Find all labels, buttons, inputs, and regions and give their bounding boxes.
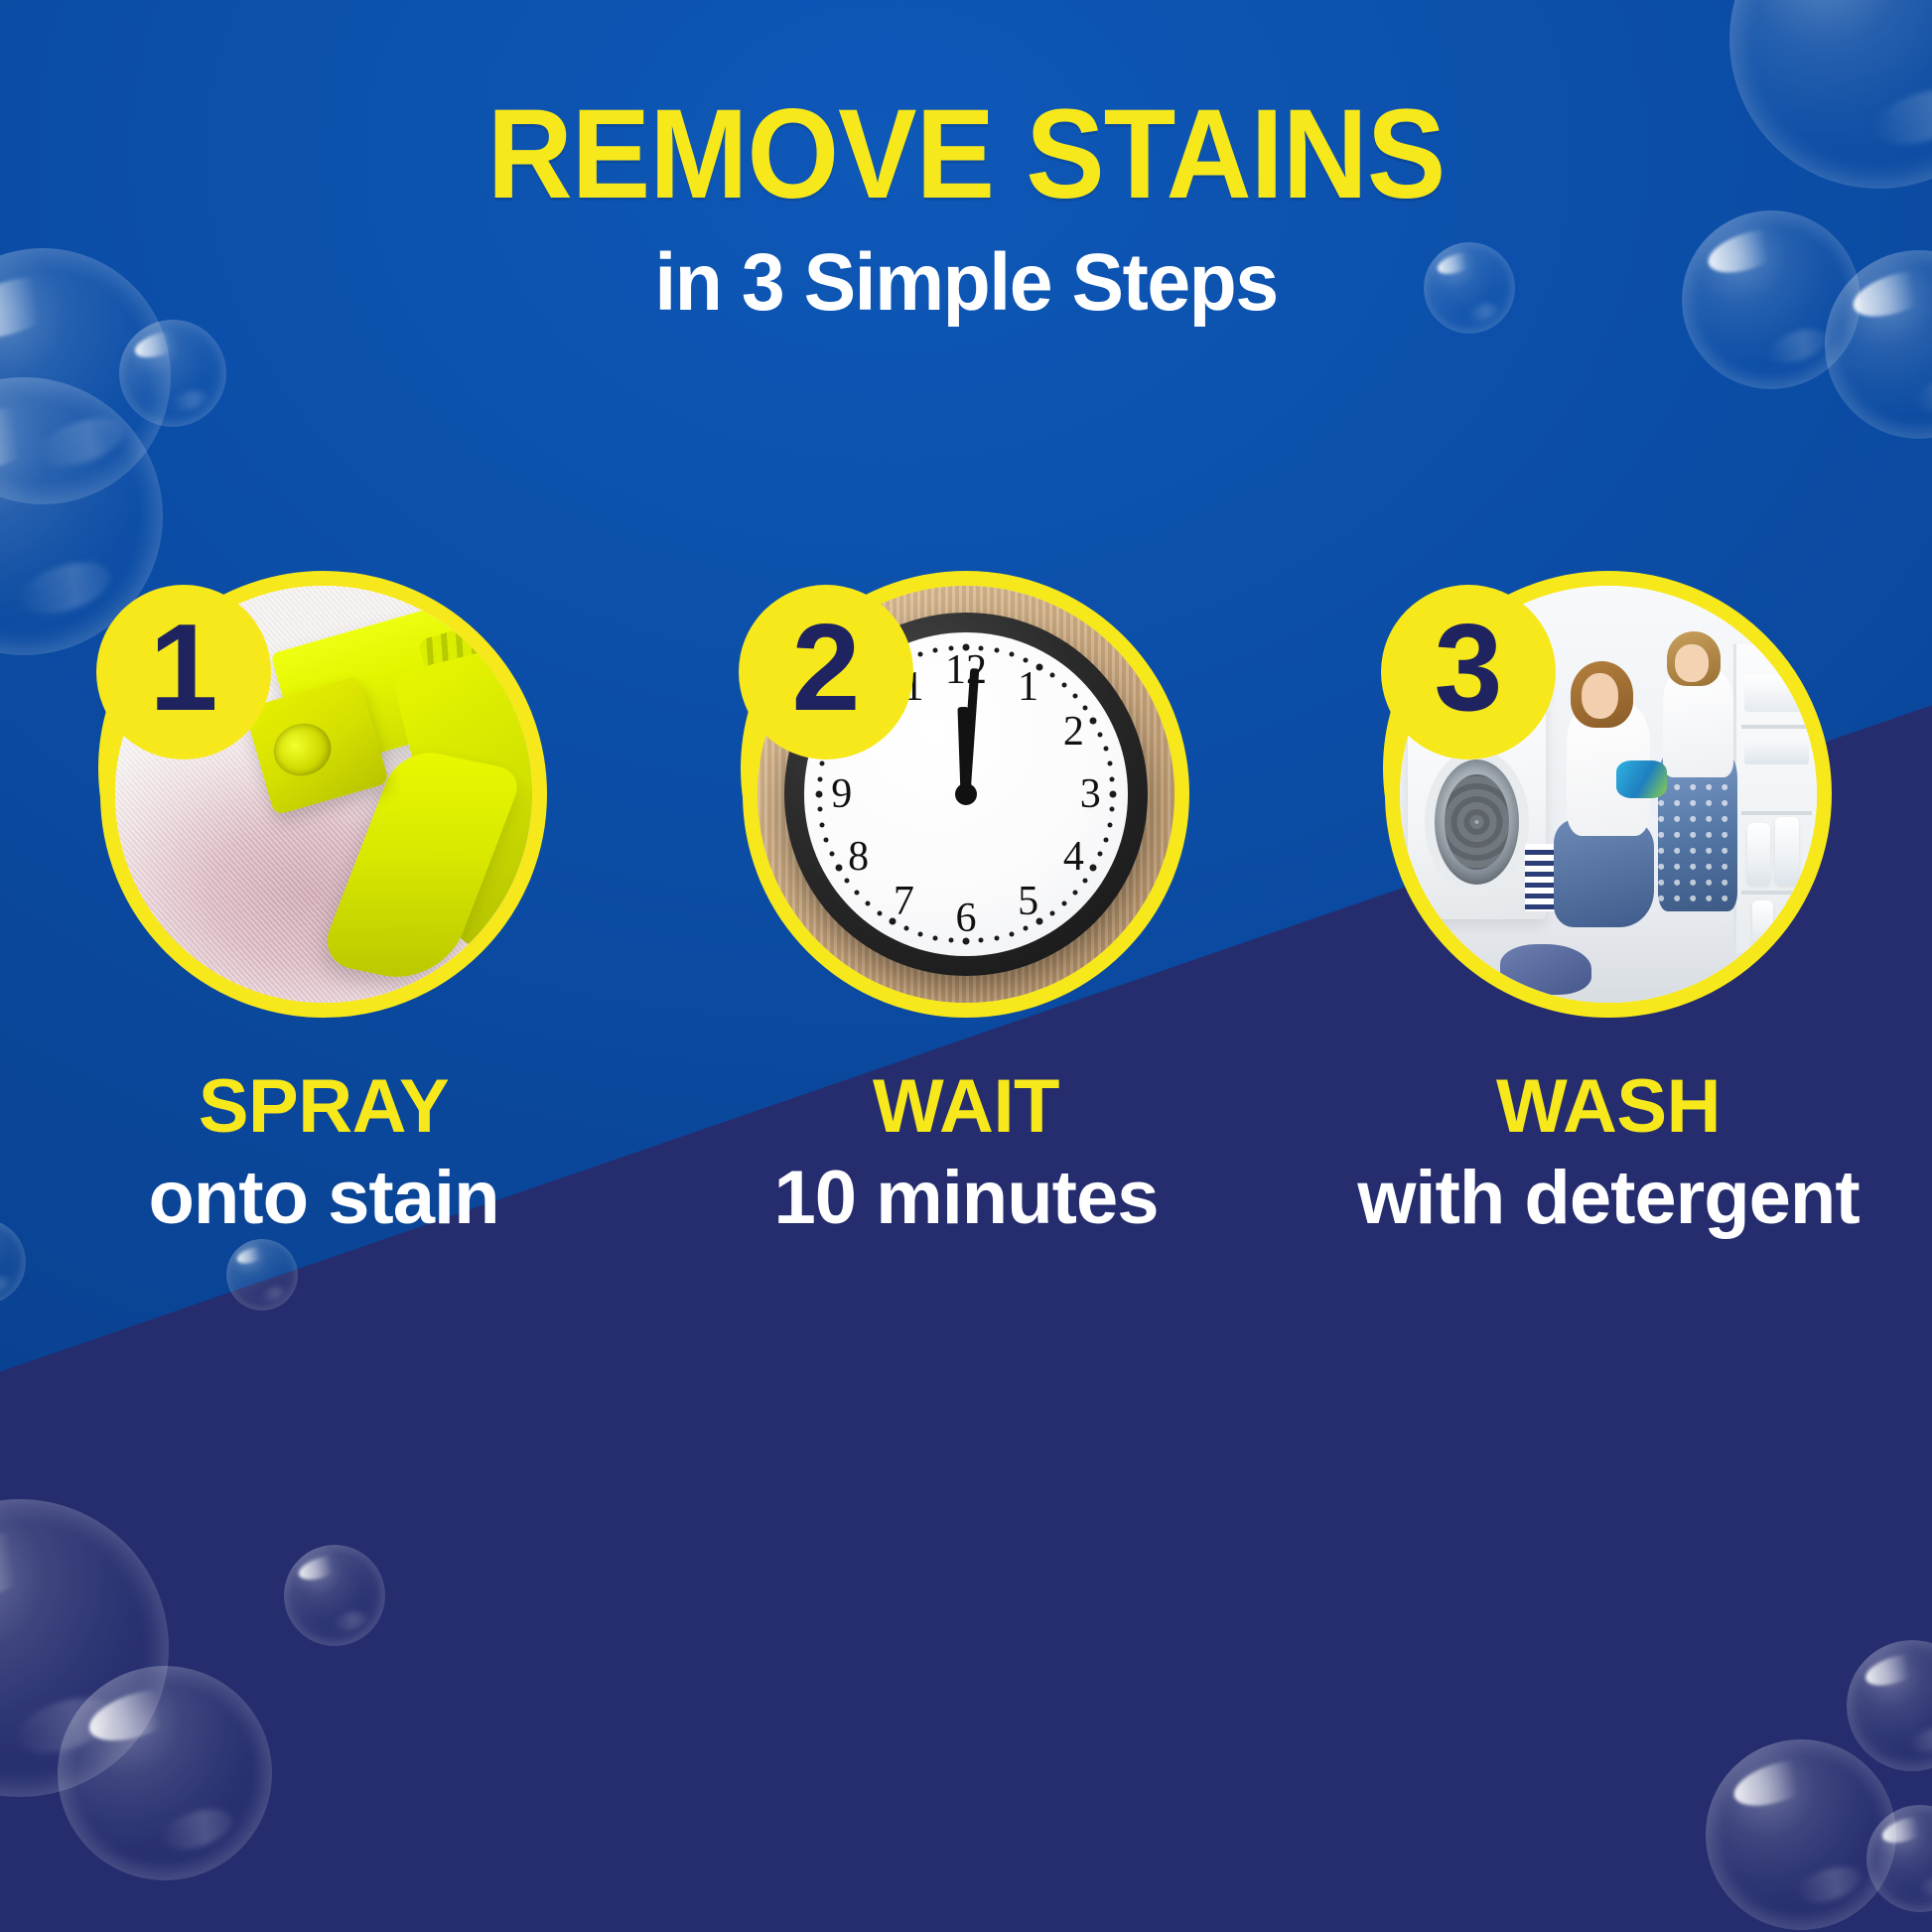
clock-minute-mark	[824, 837, 829, 842]
detergent-bottle	[1752, 900, 1773, 947]
clock-minute-mark	[979, 938, 984, 943]
step-3-photo-wrap: 3	[1385, 571, 1832, 1018]
clock-minute-mark	[1103, 837, 1108, 842]
step-number-1: 1	[150, 607, 218, 730]
clock-minute-mark	[918, 652, 923, 657]
detergent-bottle	[1747, 823, 1770, 885]
clock-minute-mark	[817, 807, 822, 812]
folded-towel	[1744, 675, 1809, 712]
clock-minute-mark	[1072, 891, 1077, 896]
clock-minute-mark	[1024, 657, 1029, 662]
clock-minute-mark	[933, 648, 938, 653]
clock-minute-mark	[820, 822, 825, 827]
clock-minute-mark	[1072, 693, 1077, 698]
clock-numeral: 4	[1063, 833, 1084, 881]
step-3-caption: WASH with detergent	[1291, 1069, 1926, 1239]
clock-minute-mark	[1110, 776, 1115, 781]
detergent-bottle	[1775, 817, 1799, 885]
steps-row: 1 SPRAY onto stain	[0, 571, 1932, 1239]
clock-minute-mark	[829, 852, 834, 857]
clock-minute-mark	[835, 864, 842, 871]
clock-numeral: 1	[1018, 663, 1038, 711]
clock-minute-mark	[1035, 663, 1042, 670]
clock-minute-mark	[1098, 852, 1103, 857]
step-number-3: 3	[1435, 607, 1503, 730]
clock-minute-mark	[994, 648, 999, 653]
clock-minute-mark	[865, 900, 870, 905]
step-2-photo-wrap: 121234567891011 2	[743, 571, 1189, 1018]
step-3-caption-main: WASH	[1291, 1069, 1926, 1145]
clock-minute-mark	[1090, 718, 1097, 725]
clock-minute-mark	[878, 910, 883, 915]
clock-minute-mark	[855, 891, 860, 896]
clock-minute-mark	[933, 935, 938, 940]
clock-numeral: 6	[956, 895, 977, 942]
clock-minute-mark	[1082, 878, 1087, 883]
clock-minute-mark	[1024, 926, 1029, 931]
step-1-caption: SPRAY onto stain	[6, 1069, 641, 1239]
step-card-3: 3 WASH with detergent	[1311, 571, 1906, 1239]
clock-numeral: 12	[945, 646, 987, 694]
folded-towel	[1744, 737, 1809, 764]
clock-minute-mark	[1098, 732, 1103, 737]
clock-minute-mark	[1049, 673, 1054, 678]
clock-minute-mark	[903, 926, 908, 931]
clock-minute-mark	[1103, 747, 1108, 752]
step-2-caption-sub: 10 minutes	[648, 1159, 1284, 1239]
clock-minute-mark	[948, 938, 953, 943]
clock-minute-mark	[1062, 683, 1067, 688]
clock-minute-mark	[1082, 706, 1087, 711]
clock-numeral: 9	[831, 770, 852, 818]
step-number-badge-1: 1	[96, 585, 271, 759]
clock-minute-mark	[979, 645, 984, 650]
clock-numeral: 8	[848, 833, 869, 881]
step-1-caption-sub: onto stain	[6, 1159, 641, 1239]
washing-machine-drum	[1445, 774, 1509, 870]
clock-minute-mark	[1107, 761, 1112, 766]
step-number-badge-2: 2	[739, 585, 913, 759]
clock-minute-mark	[948, 645, 953, 650]
laundry-shelf	[1733, 644, 1817, 953]
clock-minute-mark	[1062, 900, 1067, 905]
detergent-pods	[1616, 760, 1666, 798]
child-face	[1675, 644, 1709, 682]
laundry-pile	[1500, 944, 1591, 994]
clock-minute-mark	[890, 918, 897, 925]
poster-canvas: REMOVE STAINS in 3 Simple Steps	[0, 0, 1932, 1932]
clock-minute-mark	[1107, 822, 1112, 827]
page-subtitle: in 3 Simple Steps	[39, 242, 1893, 324]
clock-minute-mark	[963, 644, 970, 651]
clock-numeral: 2	[1063, 708, 1084, 756]
step-card-1: 1 SPRAY onto stain	[26, 571, 621, 1239]
clock-minute-mark	[918, 931, 923, 936]
clock-minute-mark	[1049, 910, 1054, 915]
clock-minute-mark	[845, 878, 850, 883]
clock-minute-mark	[1009, 931, 1014, 936]
step-2-caption-main: WAIT	[648, 1069, 1284, 1145]
mother-face	[1582, 673, 1619, 719]
clock-minute-mark	[994, 935, 999, 940]
clock-minute-mark	[1109, 791, 1116, 798]
step-1-caption-main: SPRAY	[6, 1069, 641, 1145]
clock-minute-mark	[820, 761, 825, 766]
poster-header: REMOVE STAINS in 3 Simple Steps	[0, 91, 1932, 324]
step-number-2: 2	[792, 607, 861, 730]
clock-minute-mark	[1009, 652, 1014, 657]
clock-minute-mark	[1110, 807, 1115, 812]
step-2-caption: WAIT 10 minutes	[648, 1069, 1284, 1239]
washing-machine-door	[1425, 750, 1529, 895]
clock-center-pin	[955, 783, 977, 805]
clock-minute-mark	[817, 776, 822, 781]
clock-numeral: 3	[1080, 770, 1101, 818]
clock-minute-mark	[1035, 918, 1042, 925]
page-title: REMOVE STAINS	[68, 91, 1864, 218]
clock-minute-mark	[1090, 864, 1097, 871]
step-number-badge-3: 3	[1381, 585, 1556, 759]
clock-minute-mark	[963, 937, 970, 944]
step-1-photo-wrap: 1	[100, 571, 547, 1018]
clock-numeral: 7	[894, 878, 914, 925]
step-3-caption-sub: with detergent	[1291, 1159, 1926, 1239]
clock-numeral: 5	[1018, 878, 1038, 925]
clock-minute-mark	[816, 791, 823, 798]
step-card-2: 121234567891011 2 WAIT 10 minutes	[668, 571, 1264, 1239]
